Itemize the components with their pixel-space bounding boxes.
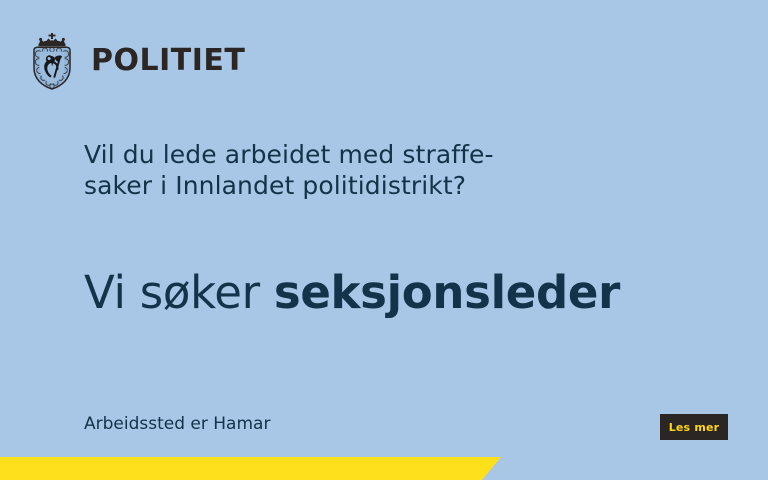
headline-lead: Vi søker [84, 266, 274, 319]
kicker-question: Vil du lede arbeidet med straffe- saker … [84, 139, 554, 201]
politiet-logo[interactable]: POLITIET [26, 32, 245, 90]
kicker-line-2: saker i Innlandet politidistrikt? [84, 170, 554, 201]
politiet-wordmark: POLITIET [91, 46, 245, 76]
read-more-button[interactable]: Les mer [660, 414, 728, 440]
read-more-label: Les mer [669, 422, 720, 433]
headline-role: seksjonsleder [274, 266, 620, 319]
norwegian-coat-of-arms-crest-icon [26, 32, 78, 90]
yellow-accent-stripe [0, 457, 501, 480]
job-location: Arbeidssted er Hamar [84, 413, 270, 435]
kicker-line-1: Vil du lede arbeidet med straffe- [84, 139, 554, 170]
recruitment-banner: POLITIET Vil du lede arbeidet med straff… [0, 0, 768, 480]
page-title: Vi søker seksjonsleder [84, 268, 620, 318]
